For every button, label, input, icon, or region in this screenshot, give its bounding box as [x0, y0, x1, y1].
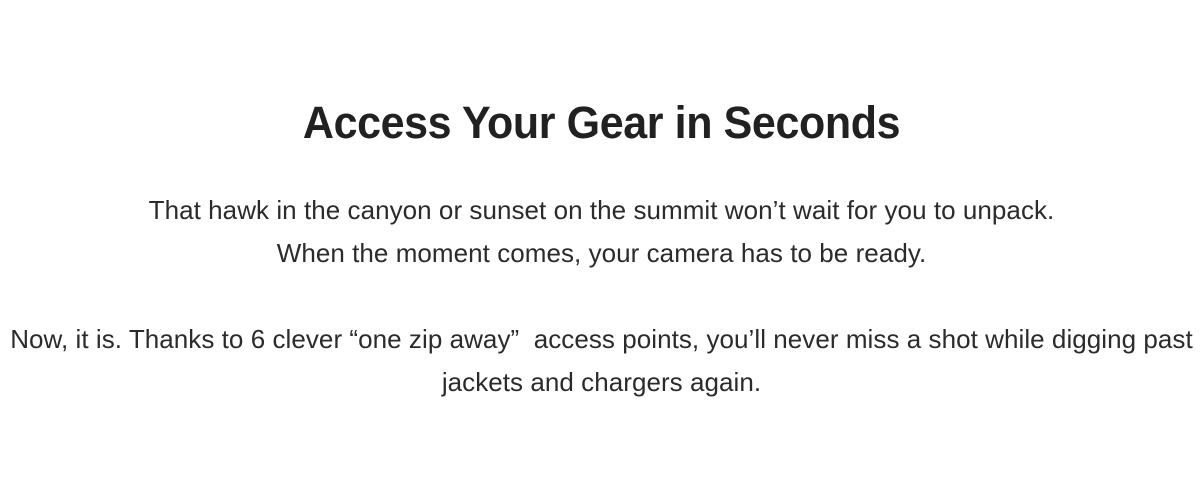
hero-paragraph-secondary: Now, it is. Thanks to 6 clever “one zip …	[0, 318, 1203, 404]
page-title: Access Your Gear in Seconds	[27, 0, 1176, 150]
paragraph-spacer	[0, 275, 1203, 318]
hero-content: Access Your Gear in Seconds That hawk in…	[0, 0, 1203, 404]
hero-paragraph-primary: That hawk in the canyon or sunset on the…	[0, 150, 1203, 275]
marketing-hero-section: Access Your Gear in Seconds That hawk in…	[0, 0, 1203, 485]
